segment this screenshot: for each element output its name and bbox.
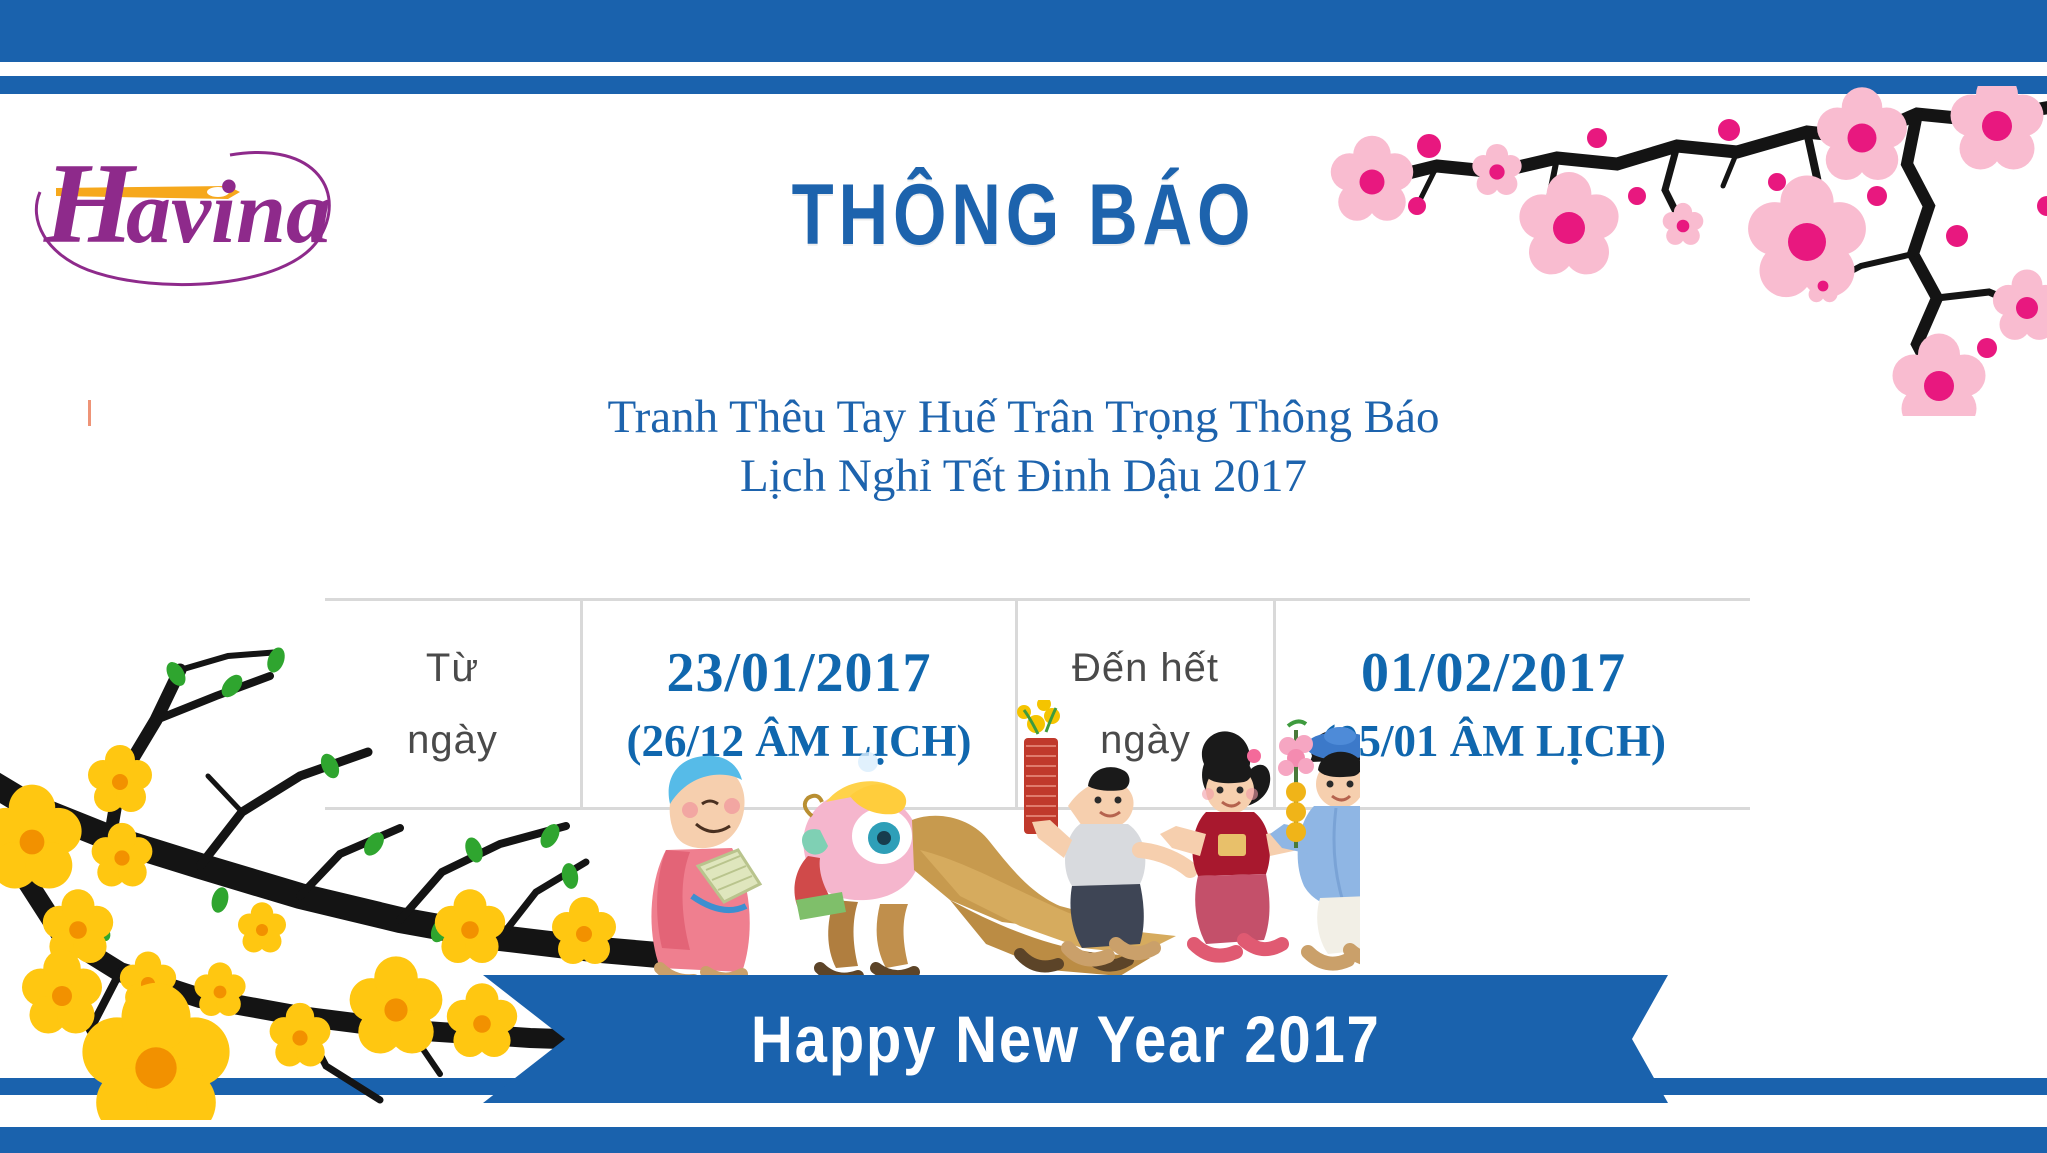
- to-date-cell: 01/02/2017 (05/01 ÂM LỊCH): [1276, 601, 1711, 807]
- to-label-line-2: ngày: [1100, 713, 1191, 767]
- to-day-label-cell: Đến hết ngày: [1018, 601, 1276, 807]
- from-date-lunar: (26/12 ÂM LỊCH): [627, 711, 972, 772]
- from-date-cell: 23/01/2017 (26/12 ÂM LỊCH): [583, 601, 1018, 807]
- holiday-schedule-table: Từ ngày 23/01/2017 (26/12 ÂM LỊCH) Đến h…: [325, 598, 1750, 810]
- from-label-line-2: ngày: [407, 713, 498, 767]
- from-label-line-1: Từ: [426, 641, 479, 695]
- page-subtitle: Tranh Thêu Tay Huế Trân Trọng Thông Báo …: [0, 388, 2047, 506]
- bottom-border-bar-thick: [0, 1127, 2047, 1153]
- from-date-solar: 23/01/2017: [666, 636, 931, 712]
- subtitle-line-2: Lịch Nghỉ Tết Đinh Dậu 2017: [0, 447, 2047, 506]
- svg-text:H: H: [43, 140, 138, 268]
- to-date-lunar: (05/01 ÂM LỊCH): [1321, 711, 1666, 772]
- ribbon-content: Happy New Year 2017: [483, 975, 1578, 1103]
- top-border-bar-thick: [0, 0, 2047, 62]
- happy-new-year-ribbon: Happy New Year 2017: [483, 975, 1578, 1103]
- to-label-line-1: Đến hết: [1072, 641, 1219, 695]
- ribbon-greeting-text: Happy New Year 2017: [751, 1001, 1381, 1077]
- page-title: THÔNG BÁO: [205, 172, 1843, 258]
- to-date-solar: 01/02/2017: [1361, 636, 1626, 712]
- stray-artifact-mark: [88, 400, 91, 426]
- subtitle-line-1: Tranh Thêu Tay Huế Trân Trọng Thông Báo: [0, 388, 2047, 447]
- top-border-bar-thin: [0, 76, 2047, 94]
- from-day-label-cell: Từ ngày: [325, 601, 583, 807]
- ribbon-right-notch: [1578, 975, 1668, 1103]
- tet-holiday-announcement-poster: H avina THÔNG BÁO Tranh Thêu Tay Huế Trâ…: [0, 0, 2047, 1153]
